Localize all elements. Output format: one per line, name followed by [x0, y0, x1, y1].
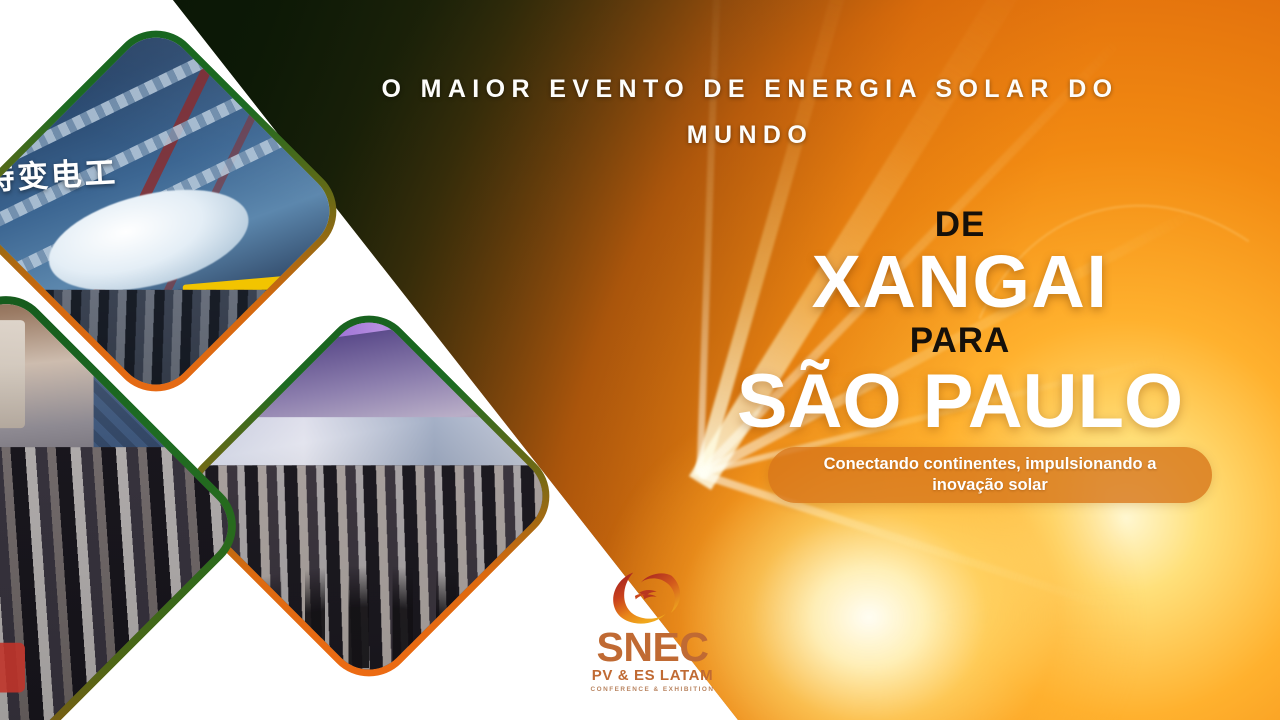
exhibition-booth [0, 320, 26, 428]
logo-subtitle: PV & ES LATAM [560, 667, 745, 684]
title-from-label: DE [700, 205, 1220, 245]
crowd-mass [0, 448, 251, 720]
red-bag [0, 643, 24, 693]
title-from-city: XANGAI [700, 245, 1220, 319]
tagline-pill: Conectando continentes, impulsionando a … [768, 447, 1212, 503]
snec-logo: SNEC PV & ES LATAM CONFERENCE & EXHIBITI… [560, 565, 745, 695]
booth-row [173, 418, 564, 469]
snec-swirl-bird-icon [560, 565, 745, 627]
title-to-label: PARA [700, 319, 1220, 363]
booth-banner-text: 特变电工 [0, 149, 119, 200]
poster-canvas: O MAIOR EVENTO DE ENERGIA SOLAR DO MUNDO… [0, 0, 1280, 720]
title-block: DE XANGAI PARA SÃO PAULO [700, 205, 1220, 441]
audience-heads [173, 566, 564, 668]
tagline-text: Conectando continentes, impulsionando a … [768, 454, 1212, 496]
title-to-city: SÃO PAULO [700, 363, 1220, 441]
logo-wordmark: SNEC [560, 627, 745, 667]
headline-kicker: O MAIOR EVENTO DE ENERGIA SOLAR DO MUNDO [360, 66, 1140, 158]
logo-caption: CONFERENCE & EXHIBITION [560, 684, 745, 695]
